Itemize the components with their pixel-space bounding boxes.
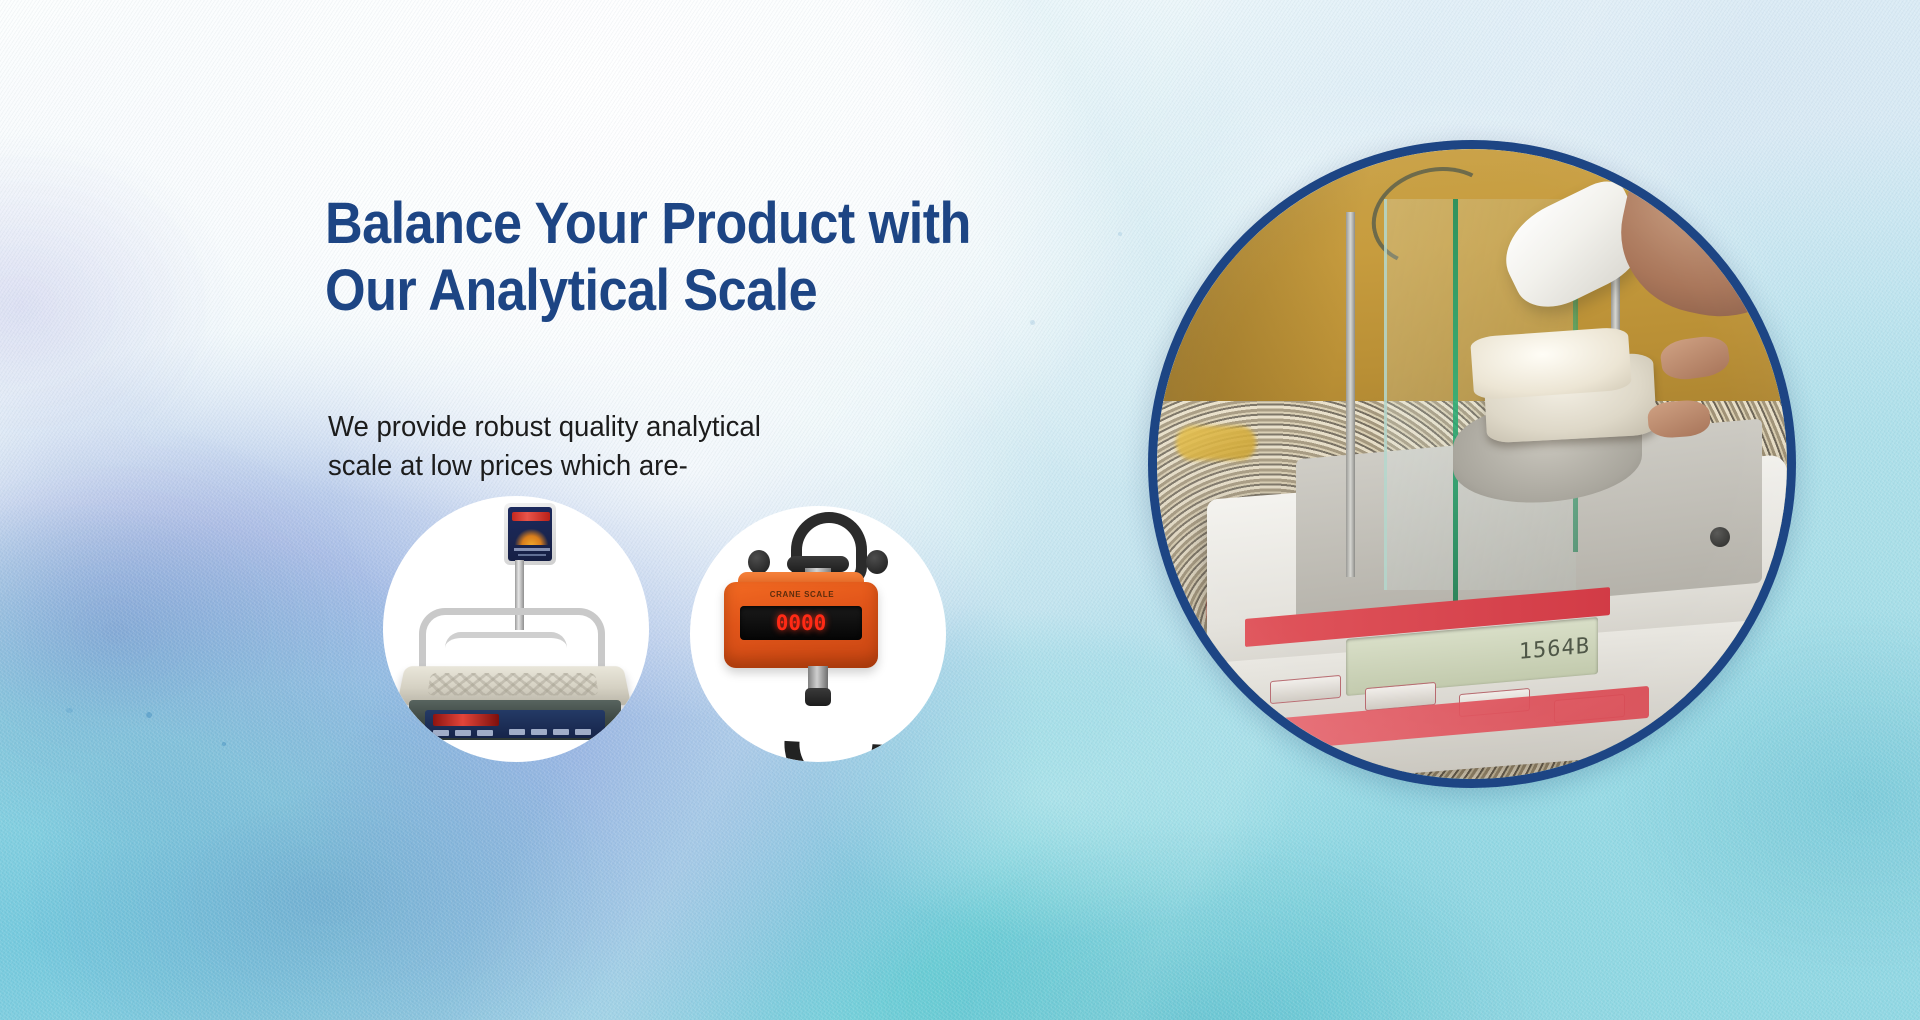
photo-vignette [1157,149,1787,779]
scale-control-panel [425,710,605,738]
scale-key [455,730,471,736]
analytical-balance-photo: 1564B [1157,149,1787,779]
paint-speck [222,742,226,746]
crane-display-digits: 0000 [776,613,827,634]
crane-shackle-ear [866,550,888,574]
platform-tread-pattern [427,673,599,695]
indicator-sublabel [518,554,546,556]
crane-display: 0000 [740,606,862,640]
paint-speck [66,708,73,713]
scale-key [553,729,569,735]
paint-speck [146,712,152,718]
scale-key [433,730,449,736]
indicator-display [512,512,550,521]
crane-shackle-ear [748,550,770,574]
product-circle-crane-scale: CRANE SCALE 0000 [690,506,946,762]
banner-stage: Balance Your Product with Our Analytical… [0,0,1920,1020]
page-title: Balance Your Product with Our Analytical… [325,190,1036,325]
crane-hook [763,670,909,762]
scale-key [531,729,547,735]
indicator-head [504,503,556,565]
scale-lcd [433,714,499,726]
scale-key [509,729,525,735]
hero-photo-circle: 1564B [1148,140,1796,788]
crane-brand-label: CRANE SCALE [742,590,862,599]
indicator-face [508,507,552,561]
product-circle-platform-scale [383,496,649,762]
paint-speck [1118,232,1122,236]
crane-scale-image: CRANE SCALE 0000 [690,506,946,762]
scale-key [477,730,493,736]
platform-scale-image [383,496,649,762]
indicator-label [514,548,550,551]
indicator-logo [515,529,548,545]
subheading-text: We provide robust quality analytical sca… [328,408,936,487]
scale-key [575,729,591,735]
